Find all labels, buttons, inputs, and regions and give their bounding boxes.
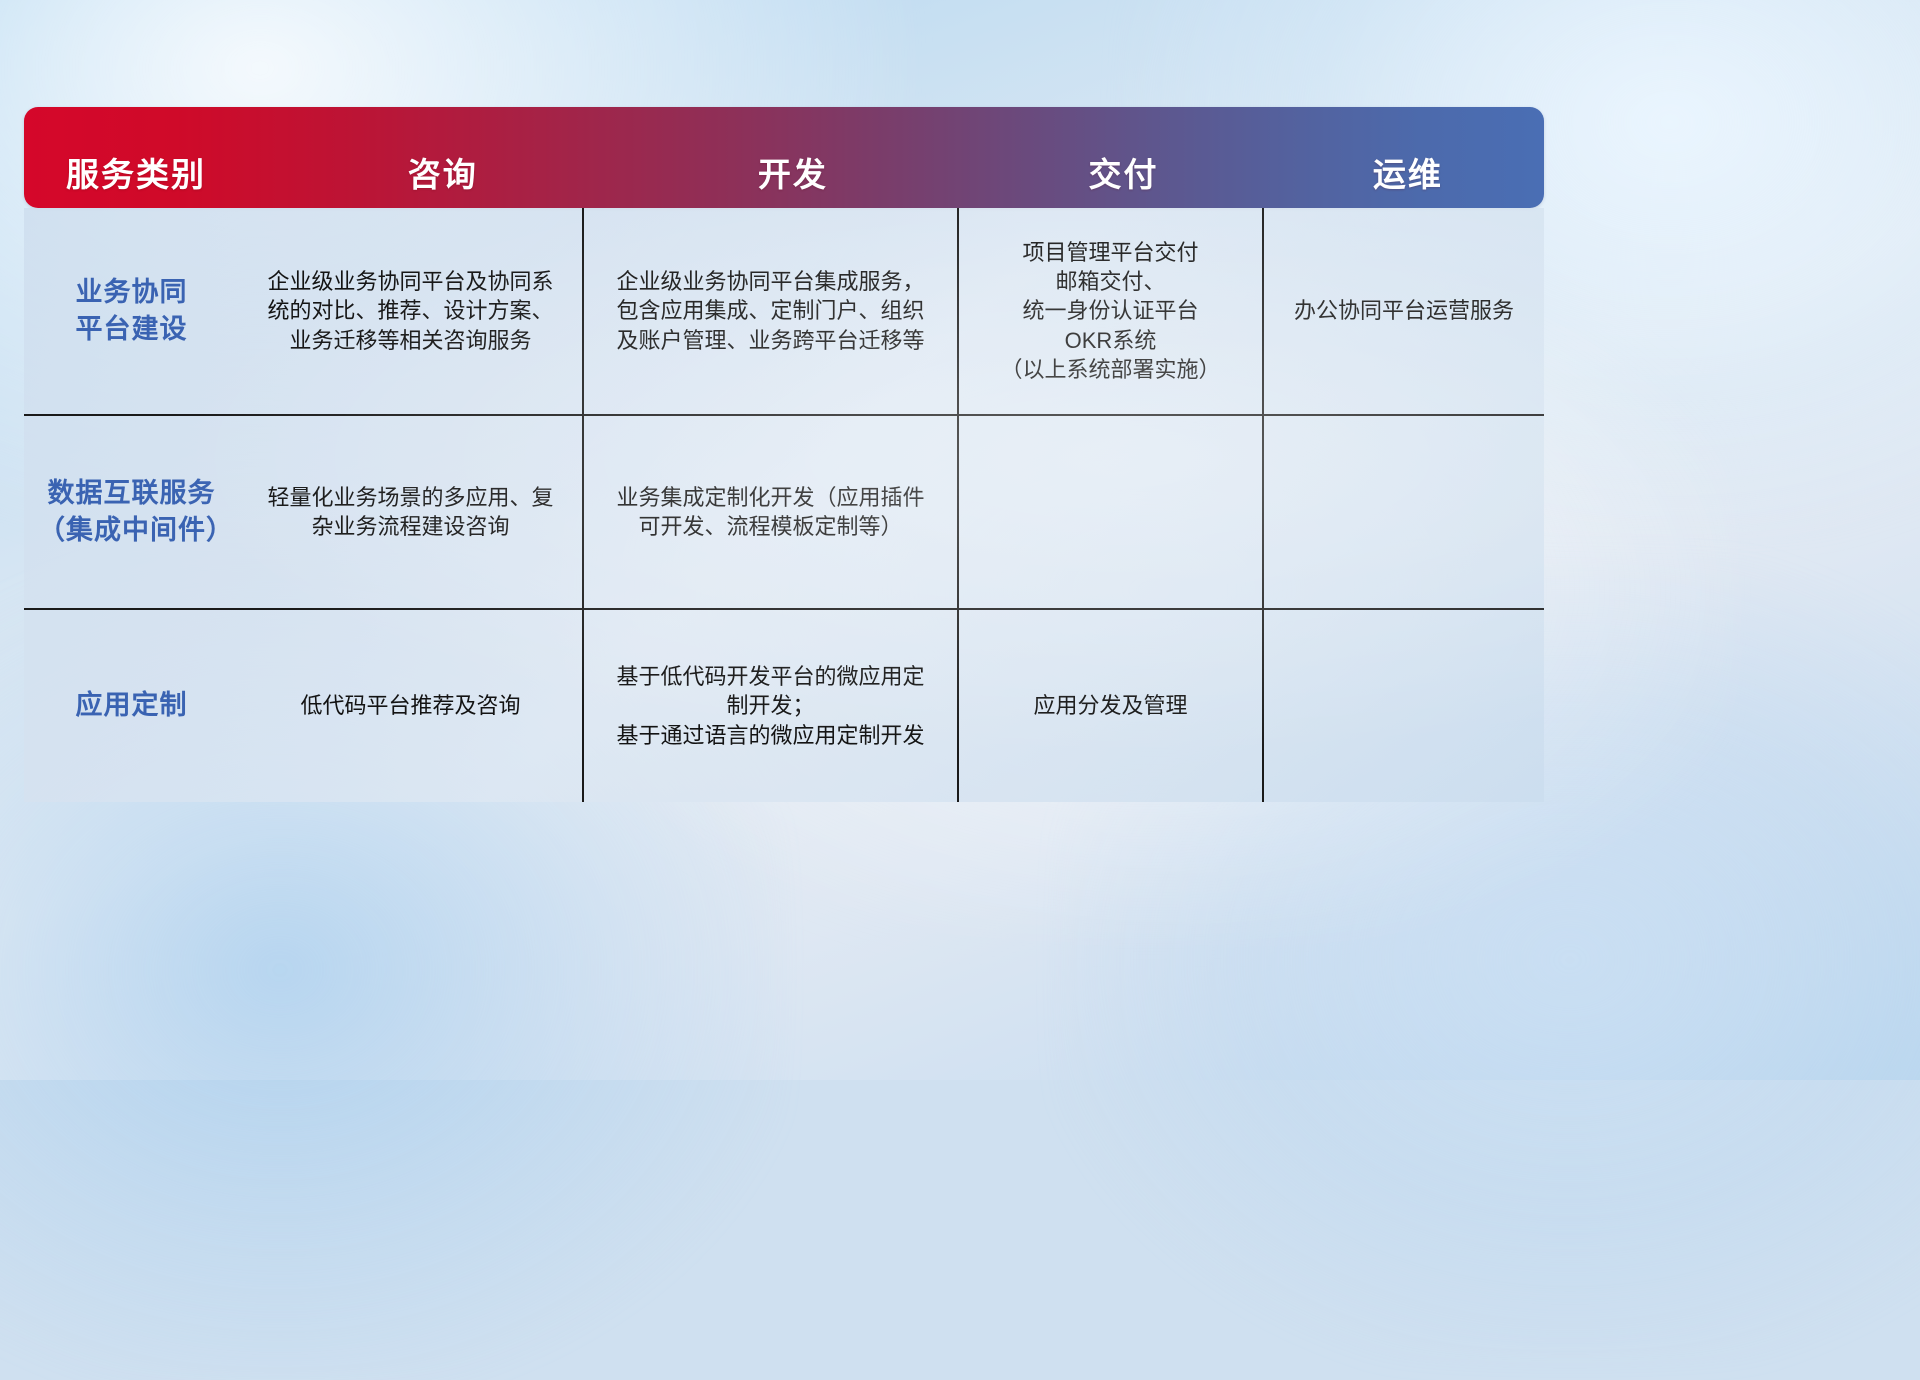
column-header-operations: 运维 (1272, 107, 1544, 208)
cell-delivery: 应用分发及管理 (959, 610, 1264, 802)
cell-consulting: 低代码平台推荐及咨询 (239, 610, 584, 802)
table-header-row: 服务类别 咨询 开发 交付 运维 (24, 107, 1544, 208)
table-body: 业务协同 平台建设 企业级业务协同平台及协同系 统的对比、推荐、设计方案、 业务… (24, 208, 1544, 802)
row-category-label: 业务协同 平台建设 (24, 208, 239, 414)
cell-consulting: 轻量化业务场景的多应用、复 杂业务流程建设咨询 (239, 416, 584, 608)
cell-operations (1264, 610, 1544, 802)
cell-consulting: 企业级业务协同平台及协同系 统的对比、推荐、设计方案、 业务迁移等相关咨询服务 (239, 208, 584, 414)
service-matrix-table: 服务类别 咨询 开发 交付 运维 业务协同 平台建设 企业级业务协同平台及协同系… (24, 107, 1544, 802)
cell-development: 企业级业务协同平台集成服务， 包含应用集成、定制门户、组织 及账户管理、业务跨平… (584, 208, 959, 414)
column-header-category: 服务类别 (24, 107, 275, 208)
table-row: 业务协同 平台建设 企业级业务协同平台及协同系 统的对比、推荐、设计方案、 业务… (24, 208, 1544, 416)
cell-development: 基于低代码开发平台的微应用定 制开发； 基于通过语言的微应用定制开发 (584, 610, 959, 802)
column-header-consulting: 咨询 (275, 107, 610, 208)
cell-operations: 办公协同平台运营服务 (1264, 208, 1544, 414)
cell-delivery (959, 416, 1264, 608)
column-header-development: 开发 (611, 107, 976, 208)
cell-development: 业务集成定制化开发（应用插件 可开发、流程模板定制等） (584, 416, 959, 608)
table-row: 数据互联服务 （集成中间件） 轻量化业务场景的多应用、复 杂业务流程建设咨询 业… (24, 416, 1544, 610)
cell-delivery: 项目管理平台交付 邮箱交付、 统一身份认证平台 OKR系统 （以上系统部署实施） (959, 208, 1264, 414)
cell-operations (1264, 416, 1544, 608)
column-header-delivery: 交付 (975, 107, 1272, 208)
row-category-label: 应用定制 (24, 610, 239, 802)
table-row: 应用定制 低代码平台推荐及咨询 基于低代码开发平台的微应用定 制开发； 基于通过… (24, 610, 1544, 802)
row-category-label: 数据互联服务 （集成中间件） (24, 416, 239, 608)
